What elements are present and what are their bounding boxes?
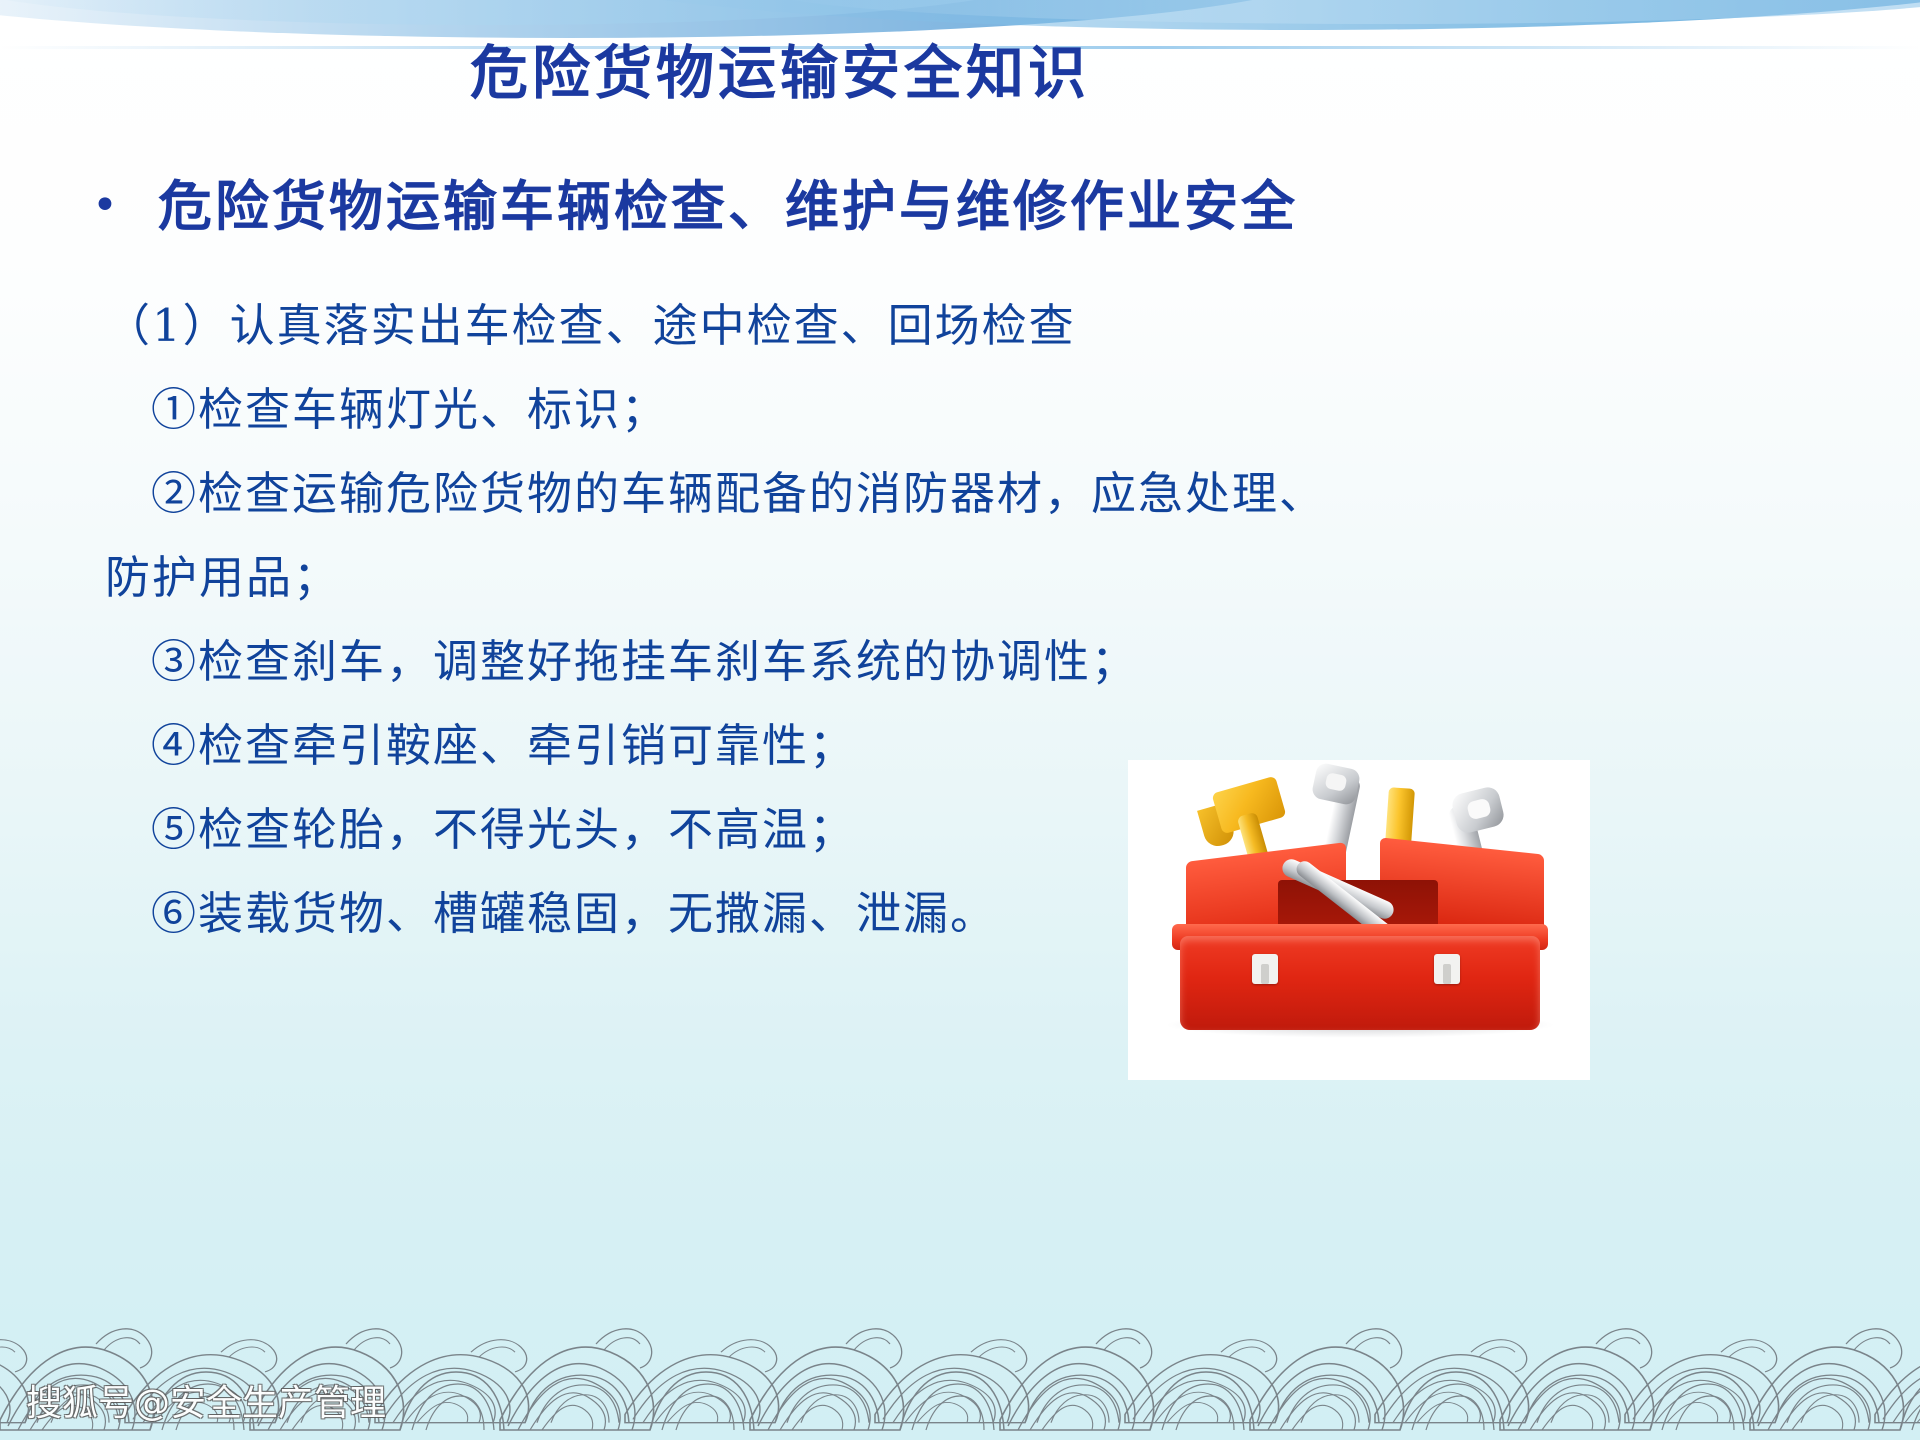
- bullet-heading-text: 危险货物运输车辆检查、维护与维修作业安全: [158, 168, 1298, 244]
- watermark-text: 搜狐号@安全生产管理: [26, 1374, 386, 1426]
- bullet-dot-icon: •: [92, 168, 158, 244]
- toolbox-latch-left: [1252, 954, 1278, 984]
- toolbox-body: [1180, 936, 1540, 1030]
- presentation-slide: 危险货物运输安全知识 • 危险货物运输车辆检查、维护与维修作业安全 （1）认真落…: [0, 0, 1920, 1440]
- swoosh-band-4: [760, 0, 1920, 24]
- body-line: ①检查车辆灯光、标识；: [105, 368, 1825, 452]
- swoosh-band-3: [0, 0, 1040, 25]
- red-toolbox-image: [1128, 760, 1590, 1080]
- body-line: ②检查运输危险货物的车辆配备的消防器材，应急处理、: [105, 452, 1825, 536]
- body-line: 防护用品；: [105, 536, 1825, 620]
- toolbox-latch-right: [1434, 954, 1460, 984]
- body-line: （1）认真落实出车检查、途中检查、回场检查: [105, 284, 1825, 368]
- body-line: ③检查刹车，调整好拖挂车刹车系统的协调性；: [105, 620, 1825, 704]
- slide-title: 危险货物运输安全知识: [0, 26, 1560, 110]
- bullet-heading-row: • 危险货物运输车辆检查、维护与维修作业安全: [92, 168, 1852, 244]
